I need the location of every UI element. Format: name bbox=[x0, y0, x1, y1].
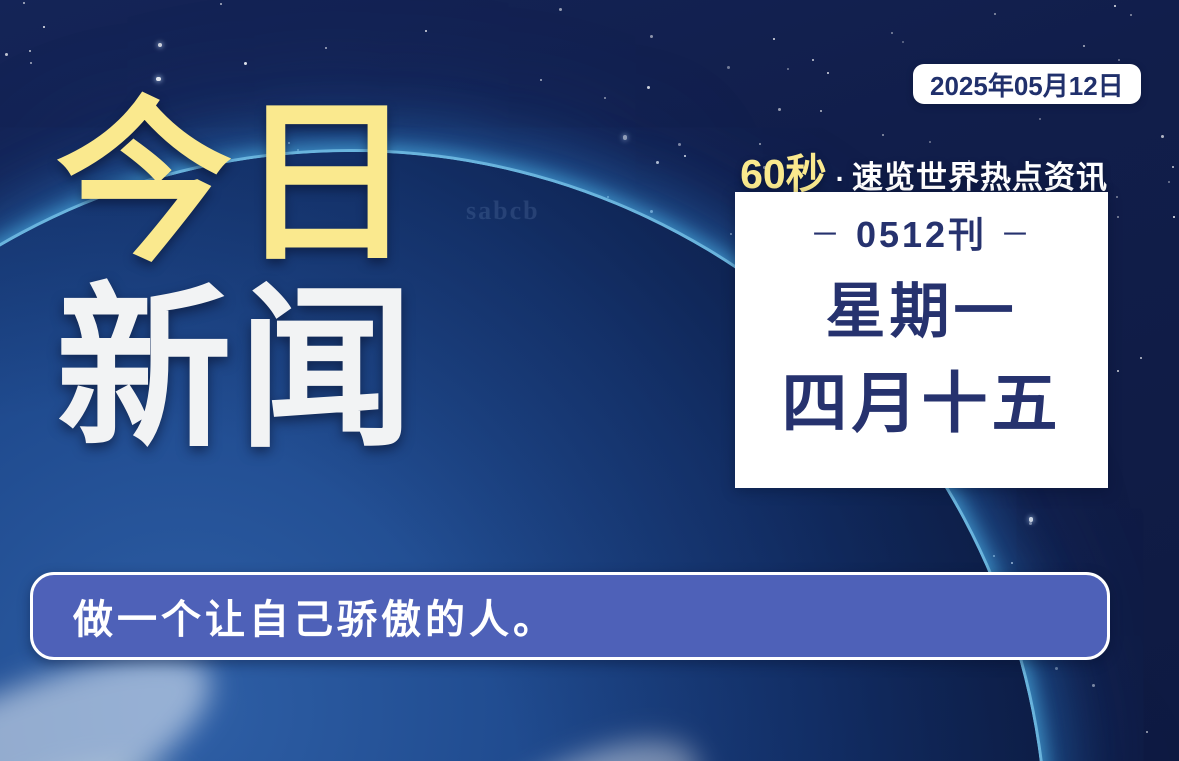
tagline-text: 速览世界热点资讯 bbox=[852, 152, 1108, 197]
issue-line: － 0512刊 － bbox=[810, 206, 1033, 258]
news-poster: sabcb 今日 新闻 2025年05月12日 60秒 · 速览世界热点资讯 －… bbox=[0, 0, 1179, 761]
issue-dash-right: － bbox=[1000, 210, 1033, 254]
weekday-label: 星期一 bbox=[826, 280, 1018, 343]
issue-number: 0512刊 bbox=[856, 206, 987, 258]
quote-bar: 做一个让自己骄傲的人。 bbox=[30, 572, 1110, 660]
tagline-separator: · bbox=[827, 163, 852, 195]
headline-line-2: 新闻 bbox=[56, 282, 420, 458]
lunar-date-label: 四月十五 bbox=[782, 369, 1062, 438]
quote-text: 做一个让自己骄傲的人。 bbox=[73, 587, 557, 645]
date-badge: 2025年05月12日 bbox=[913, 64, 1141, 104]
watermark-text: sabcb bbox=[466, 196, 540, 226]
issue-info-card: － 0512刊 － 星期一 四月十五 bbox=[735, 192, 1108, 488]
tagline-seconds: 60秒 bbox=[740, 140, 827, 200]
page-title: 今日 新闻 bbox=[56, 96, 420, 458]
headline-line-1: 今日 bbox=[56, 96, 420, 272]
issue-dash-left: － bbox=[810, 210, 843, 254]
tagline: 60秒 · 速览世界热点资讯 bbox=[735, 140, 1108, 200]
